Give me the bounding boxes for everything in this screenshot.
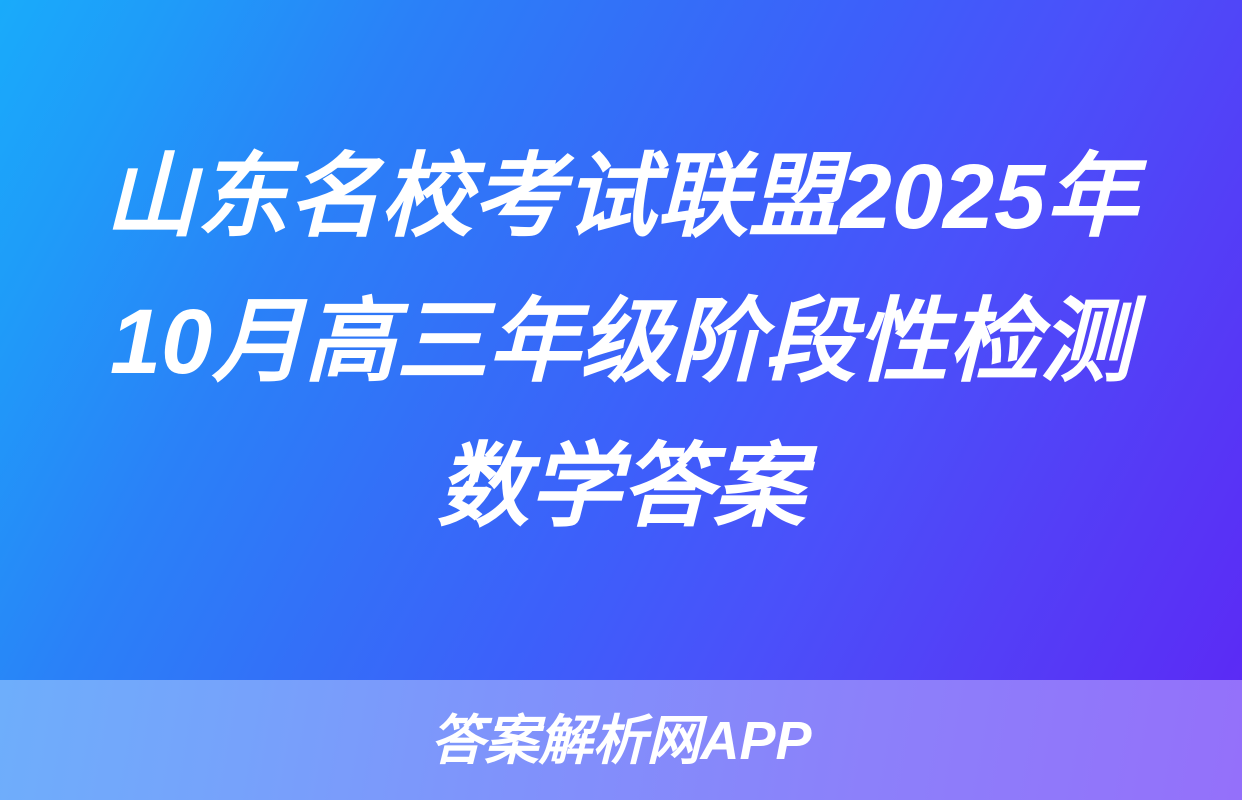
app-name-label: 答案解析网APP xyxy=(430,714,811,768)
hero-section: 山东名校考试联盟2025年10月高三年级阶段性检测数学答案 xyxy=(0,0,1242,680)
page-title: 山东名校考试联盟2025年10月高三年级阶段性检测数学答案 xyxy=(101,125,1141,560)
promo-banner: 山东名校考试联盟2025年10月高三年级阶段性检测数学答案 答案解析网APP xyxy=(0,0,1242,800)
app-footer-bar: 答案解析网APP xyxy=(0,680,1242,800)
